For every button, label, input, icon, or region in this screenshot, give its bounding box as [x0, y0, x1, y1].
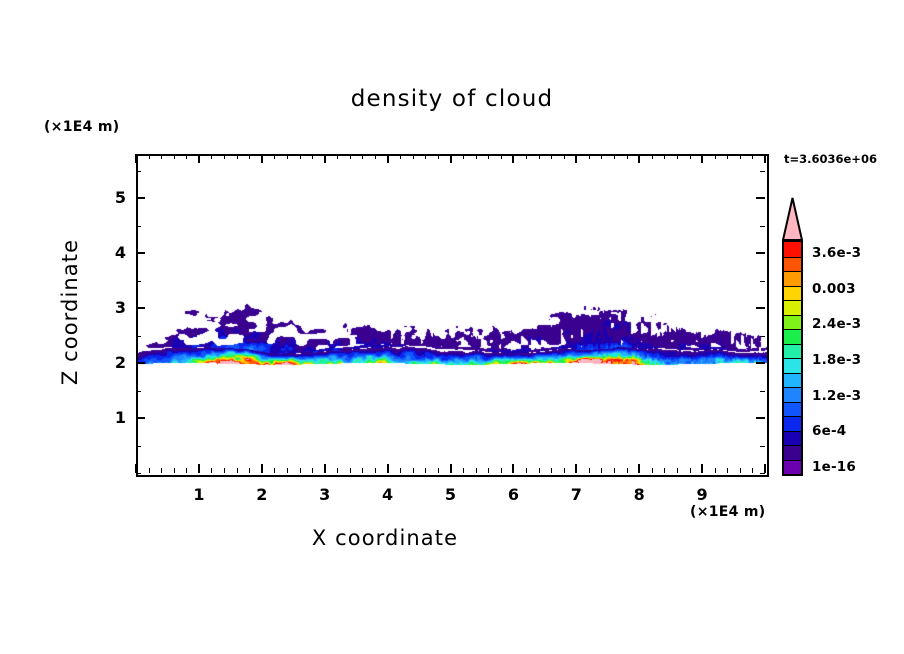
colorbar-band — [784, 344, 801, 360]
x-tick-minor — [237, 468, 238, 473]
x-tick-major — [324, 464, 326, 473]
x-tick-major — [764, 464, 766, 473]
colorbar-tick-label: 3.6e-3 — [812, 245, 861, 261]
y-tick-major — [136, 362, 145, 364]
x-tick-minor — [752, 468, 753, 473]
x-tick-label: 7 — [556, 485, 596, 504]
colorbar-band — [784, 257, 801, 273]
x-tick-minor — [727, 154, 728, 159]
x-tick-major — [135, 154, 137, 163]
x-tick-minor — [677, 468, 678, 473]
x-tick-minor — [564, 468, 565, 473]
colorbar-band — [784, 387, 801, 403]
y-tick-label: 4 — [96, 243, 126, 262]
y-tick-minor — [760, 473, 765, 474]
x-tick-minor — [438, 154, 439, 159]
y-tick-minor — [136, 171, 141, 172]
x-tick-minor — [752, 154, 753, 159]
y-tick-minor — [760, 226, 765, 227]
colorbar-tick-label: 0.003 — [812, 281, 856, 297]
x-tick-minor — [476, 154, 477, 159]
x-tick-minor — [274, 154, 275, 159]
x-tick-minor — [249, 468, 250, 473]
y-tick-minor — [136, 473, 141, 474]
x-tick-major — [261, 464, 263, 473]
x-tick-minor — [664, 154, 665, 159]
x-tick-minor — [526, 468, 527, 473]
x-tick-minor — [627, 154, 628, 159]
x-tick-minor — [211, 154, 212, 159]
colorbar-tick-label: 1e-16 — [812, 459, 856, 475]
x-tick-minor — [740, 154, 741, 159]
colorbar — [782, 240, 803, 476]
x-tick-minor — [400, 468, 401, 473]
x-axis-title: X coordinate — [0, 526, 770, 550]
page-title: density of cloud — [0, 86, 904, 112]
x-tick-major — [387, 154, 389, 163]
x-tick-label: 1 — [179, 485, 219, 504]
x-tick-minor — [287, 468, 288, 473]
x-tick-major — [701, 154, 703, 163]
x-tick-minor — [300, 154, 301, 159]
x-tick-minor — [652, 154, 653, 159]
y-tick-minor — [136, 281, 141, 282]
x-tick-label: 6 — [493, 485, 533, 504]
colorbar-tick-label: 2.4e-3 — [812, 316, 861, 332]
x-tick-minor — [413, 468, 414, 473]
x-tick-major — [198, 464, 200, 473]
x-tick-minor — [149, 154, 150, 159]
colorbar-band — [784, 373, 801, 389]
y-tick-minor — [136, 226, 141, 227]
y-tick-major — [136, 252, 145, 254]
x-tick-minor — [337, 468, 338, 473]
x-tick-minor — [501, 468, 502, 473]
x-tick-minor — [564, 154, 565, 159]
colorbar-band — [784, 358, 801, 374]
x-tick-minor — [664, 468, 665, 473]
x-tick-major — [450, 464, 452, 473]
x-tick-minor — [601, 468, 602, 473]
timestamp-annotation: t=3.6036e+06 — [784, 152, 877, 166]
x-tick-minor — [501, 154, 502, 159]
x-tick-major — [764, 154, 766, 163]
x-tick-minor — [488, 154, 489, 159]
x-tick-minor — [589, 468, 590, 473]
y-tick-major — [136, 197, 145, 199]
y-axis-title: Z coordinate — [58, 212, 82, 412]
y-tick-minor — [760, 336, 765, 337]
x-tick-minor — [174, 468, 175, 473]
x-tick-minor — [727, 468, 728, 473]
colorbar-tick-label: 1.8e-3 — [812, 352, 861, 368]
x-tick-minor — [539, 468, 540, 473]
y-tick-minor — [136, 446, 141, 447]
x-tick-minor — [300, 468, 301, 473]
x-tick-minor — [526, 154, 527, 159]
x-tick-minor — [337, 154, 338, 159]
x-tick-label: 5 — [431, 485, 471, 504]
x-tick-major — [512, 464, 514, 473]
x-tick-major — [575, 464, 577, 473]
x-tick-major — [135, 464, 137, 473]
x-tick-minor — [224, 468, 225, 473]
x-tick-major — [324, 154, 326, 163]
x-tick-minor — [740, 468, 741, 473]
y-tick-major — [756, 252, 765, 254]
y-tick-major — [756, 362, 765, 364]
y-tick-major — [756, 417, 765, 419]
x-tick-major — [512, 154, 514, 163]
x-tick-minor — [149, 468, 150, 473]
x-tick-major — [638, 154, 640, 163]
x-tick-minor — [539, 154, 540, 159]
x-tick-major — [261, 154, 263, 163]
x-tick-major — [450, 154, 452, 163]
y-axis-unit-label: (×1E4 m) — [44, 119, 119, 135]
x-tick-minor — [224, 154, 225, 159]
x-tick-minor — [476, 468, 477, 473]
y-tick-minor — [760, 281, 765, 282]
colorbar-band — [784, 315, 801, 331]
x-tick-minor — [174, 154, 175, 159]
x-tick-minor — [463, 154, 464, 159]
colorbar-tick-label: 1.2e-3 — [812, 388, 861, 404]
x-tick-major — [575, 154, 577, 163]
x-tick-label: 3 — [305, 485, 345, 504]
x-tick-minor — [312, 154, 313, 159]
y-tick-minor — [136, 336, 141, 337]
colorbar-band — [784, 271, 801, 287]
x-tick-minor — [715, 154, 716, 159]
colorbar-overflow-arrow — [782, 197, 803, 241]
y-tick-label: 5 — [96, 188, 126, 207]
plot-area — [136, 154, 769, 477]
colorbar-band — [784, 460, 801, 476]
colorbar-band — [784, 416, 801, 432]
x-tick-label: 2 — [242, 485, 282, 504]
x-tick-minor — [425, 154, 426, 159]
heatmap-field — [138, 156, 767, 475]
x-axis-unit-label: (×1E4 m) — [690, 504, 765, 520]
x-tick-minor — [350, 154, 351, 159]
y-tick-minor — [760, 171, 765, 172]
x-tick-minor — [690, 154, 691, 159]
x-tick-minor — [186, 154, 187, 159]
y-tick-major — [136, 417, 145, 419]
x-tick-minor — [362, 154, 363, 159]
x-tick-major — [638, 464, 640, 473]
x-tick-minor — [463, 468, 464, 473]
x-tick-minor — [375, 468, 376, 473]
x-tick-minor — [237, 154, 238, 159]
colorbar-band — [784, 329, 801, 345]
x-tick-minor — [614, 154, 615, 159]
x-tick-minor — [690, 468, 691, 473]
x-tick-label: 9 — [682, 485, 722, 504]
y-tick-minor — [136, 391, 141, 392]
y-tick-major — [136, 307, 145, 309]
x-tick-minor — [287, 154, 288, 159]
x-tick-minor — [312, 468, 313, 473]
y-tick-minor — [760, 446, 765, 447]
y-tick-label: 3 — [96, 298, 126, 317]
x-tick-minor — [551, 468, 552, 473]
x-tick-minor — [186, 468, 187, 473]
x-tick-minor — [400, 154, 401, 159]
y-tick-label: 2 — [96, 353, 126, 372]
x-tick-minor — [375, 154, 376, 159]
x-tick-minor — [589, 154, 590, 159]
colorbar-tick-label: 6e-4 — [812, 423, 846, 439]
x-tick-minor — [249, 154, 250, 159]
colorbar-band — [784, 242, 801, 258]
x-tick-minor — [161, 154, 162, 159]
x-tick-major — [198, 154, 200, 163]
y-tick-minor — [760, 391, 765, 392]
y-tick-label: 1 — [96, 408, 126, 427]
colorbar-band — [784, 402, 801, 418]
colorbar-band — [784, 300, 801, 316]
x-tick-minor — [652, 468, 653, 473]
y-tick-major — [756, 307, 765, 309]
x-tick-minor — [488, 468, 489, 473]
x-tick-label: 8 — [619, 485, 659, 504]
x-tick-minor — [274, 468, 275, 473]
x-tick-major — [701, 464, 703, 473]
x-tick-minor — [425, 468, 426, 473]
x-tick-minor — [211, 468, 212, 473]
x-tick-minor — [551, 154, 552, 159]
x-tick-label: 4 — [368, 485, 408, 504]
x-tick-minor — [677, 154, 678, 159]
x-tick-minor — [715, 468, 716, 473]
x-tick-minor — [601, 154, 602, 159]
x-tick-minor — [350, 468, 351, 473]
colorbar-band — [784, 445, 801, 461]
x-tick-minor — [438, 468, 439, 473]
x-tick-major — [387, 464, 389, 473]
colorbar-band — [784, 286, 801, 302]
y-tick-major — [756, 197, 765, 199]
x-tick-minor — [362, 468, 363, 473]
x-tick-minor — [627, 468, 628, 473]
x-tick-minor — [413, 154, 414, 159]
x-tick-minor — [614, 468, 615, 473]
x-tick-minor — [161, 468, 162, 473]
colorbar-band — [784, 431, 801, 447]
